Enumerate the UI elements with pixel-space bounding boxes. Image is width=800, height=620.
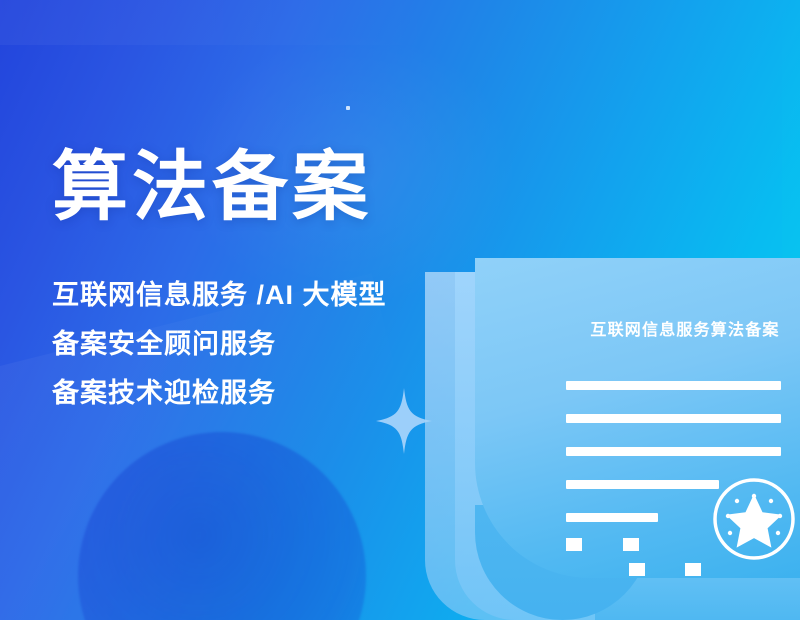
document-line — [566, 480, 719, 489]
document-square — [685, 563, 701, 576]
document-line — [566, 513, 658, 522]
document-line — [566, 414, 781, 423]
document-front-card: 互联网信息服务算法备案 — [475, 258, 800, 578]
service-list-item-2: 备案安全顾问服务 — [52, 331, 442, 358]
top-highlight-band — [0, 0, 800, 45]
sparkle-dot-icon — [346, 106, 350, 110]
promo-banner: 算法备案 互联网信息服务 /AI 大模型 备案安全顾问服务 备案技术迎检服务 互… — [0, 0, 800, 620]
document-line — [566, 381, 781, 390]
document-stack-illustration: 互联网信息服务算法备案 — [420, 255, 800, 620]
page-title: 算法备案 — [52, 148, 442, 229]
document-square — [566, 538, 582, 551]
document-line — [566, 447, 781, 456]
service-list-item-3: 备案技术迎检服务 — [52, 380, 442, 407]
service-list: 互联网信息服务 /AI 大模型 备案安全顾问服务 备案技术迎检服务 — [52, 282, 442, 407]
service-list-item-1: 互联网信息服务 /AI 大模型 — [52, 282, 442, 309]
document-card-title: 互联网信息服务算法备案 — [560, 316, 800, 340]
document-square — [629, 563, 645, 576]
document-square — [623, 538, 639, 551]
hero-text-block: 算法备案 互联网信息服务 /AI 大模型 备案安全顾问服务 备案技术迎检服务 — [52, 148, 442, 407]
star-seal-icon — [711, 476, 797, 562]
document-square-row — [566, 563, 781, 576]
background-circle — [78, 432, 366, 620]
